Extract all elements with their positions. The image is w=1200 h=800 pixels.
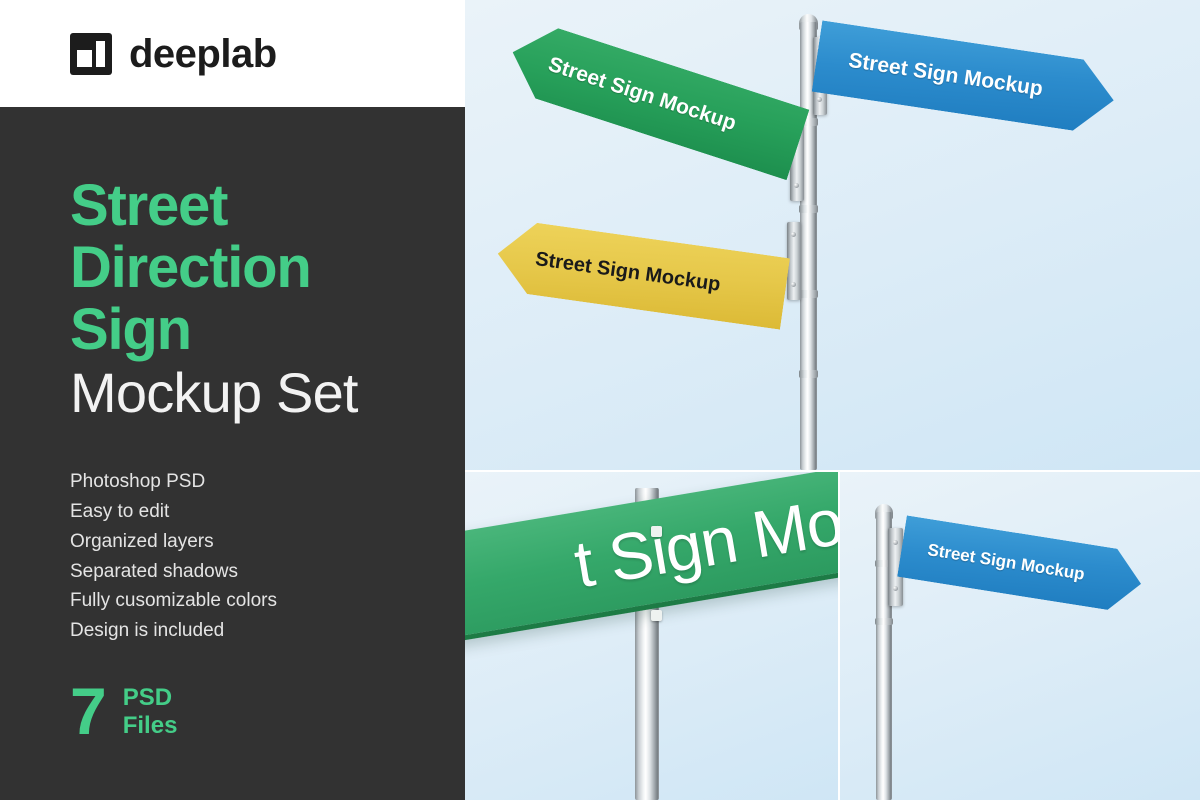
panel-divider-vertical [838, 470, 840, 800]
list-item: Separated shadows [70, 557, 465, 587]
pole-ring [799, 205, 818, 213]
bolt-icon [893, 586, 898, 591]
logo-lockup[interactable]: deeplab [70, 33, 277, 75]
page-title: Street Direction Sign Mockup Set [70, 175, 465, 423]
mockup-preview-area: Street Sign Mockup Street Sign Mockup St… [465, 0, 1200, 800]
pole-ring [875, 618, 893, 625]
left-info-column: deeplab Street Direction Sign Mockup Set… [0, 0, 465, 800]
sign-label: Street Sign Mockup [545, 53, 739, 136]
file-count-number: 7 [70, 682, 107, 741]
panel-divider-horizontal [465, 470, 1200, 472]
feature-list: Photoshop PSD Easy to edit Organized lay… [70, 467, 465, 646]
list-item: Design is included [70, 616, 465, 646]
logo-bar-tall [96, 41, 105, 67]
sign-label: Street Sign Mockup [534, 248, 722, 297]
title-line-1: Street [70, 175, 465, 237]
sign-label: Street Sign Mockup [926, 540, 1086, 585]
poster-canvas: deeplab Street Direction Sign Mockup Set… [0, 0, 1200, 800]
file-count-label-line-2: Files [123, 712, 178, 740]
bolt-icon [651, 526, 662, 537]
list-item: Organized layers [70, 527, 465, 557]
street-sign-green: Street Sign Mockup [501, 17, 809, 180]
list-item: Fully cusomizable colors [70, 586, 465, 616]
bolt-icon [893, 540, 898, 545]
mockup-single-shot: Street Sign Mockup [840, 472, 1200, 800]
bolt-icon [794, 183, 799, 188]
title-line-4: Mockup Set [70, 363, 465, 423]
pole-ring [799, 290, 818, 298]
dark-info-panel: Street Direction Sign Mockup Set Photosh… [0, 107, 465, 800]
mockup-closeup-shot: t Sign Moc [465, 472, 838, 800]
street-sign-yellow: Street Sign Mockup [493, 218, 790, 330]
title-line-3: Sign [70, 299, 465, 361]
sign-label: Street Sign Mockup [847, 49, 1044, 102]
street-sign-blue: Street Sign Mockup [812, 20, 1119, 136]
mockup-main-shot: Street Sign Mockup Street Sign Mockup St… [465, 0, 1200, 470]
street-sign-single-blue: Street Sign Mockup [897, 515, 1146, 614]
list-item: Easy to edit [70, 497, 465, 527]
title-line-2: Direction [70, 237, 465, 299]
file-count-label: PSD Files [123, 684, 178, 740]
sign-label: t Sign Moc [569, 477, 838, 602]
logo-bar-short [77, 50, 92, 67]
brand-name: deeplab [129, 34, 277, 74]
pole-ring [799, 370, 818, 378]
list-item: Photoshop PSD [70, 467, 465, 497]
bar-chart-mark-icon [70, 33, 112, 75]
bolt-icon [791, 232, 796, 237]
bolt-icon [817, 97, 822, 102]
bolt-icon [791, 282, 796, 287]
file-count-label-line-1: PSD [123, 684, 178, 712]
bolt-icon [651, 610, 662, 621]
brand-bar: deeplab [0, 0, 465, 107]
file-count-badge: 7 PSD Files [70, 682, 465, 741]
